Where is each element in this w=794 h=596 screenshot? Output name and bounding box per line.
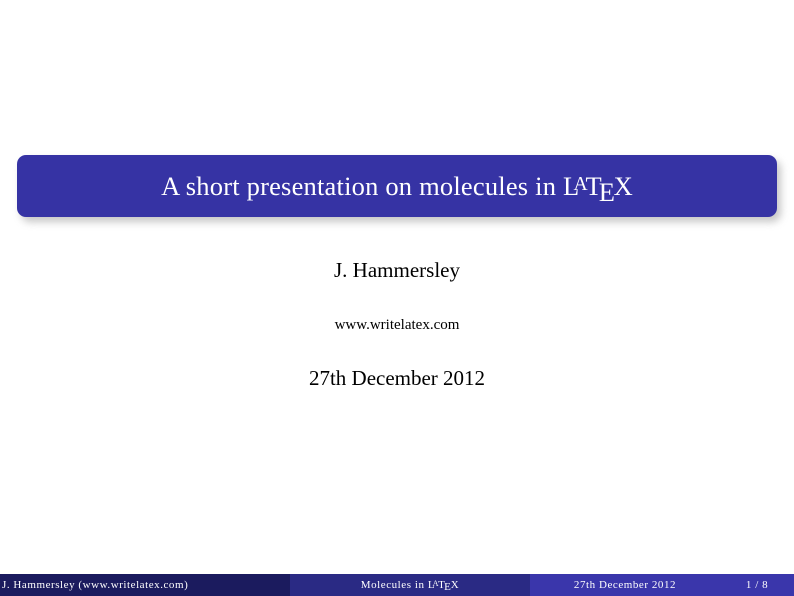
title-text-prefix: A short presentation on molecules in — [161, 171, 563, 201]
institute-website: www.writelatex.com — [0, 318, 794, 333]
footer-bar: J. Hammersley (www.writelatex.com) Molec… — [0, 574, 794, 596]
latex-logo-a: A — [574, 174, 588, 195]
slide-canvas: A short presentation on molecules in LAT… — [0, 0, 794, 596]
latex-logo-e: E — [599, 177, 615, 207]
title-block: A short presentation on molecules in LAT… — [17, 155, 777, 217]
title-banner: A short presentation on molecules in LAT… — [17, 155, 777, 217]
footer-right-section: 27th December 2012 1 / 8 — [530, 574, 794, 596]
footer-latex-logo-icon: LATEX — [428, 579, 459, 591]
presentation-date: 27th December 2012 — [0, 368, 794, 389]
footer-page-number: 1 / 8 — [720, 574, 794, 596]
footer-title: Molecules in LATEX — [290, 574, 530, 596]
footer-latex-logo-e: E — [444, 581, 451, 593]
author-name: J. Hammersley — [0, 260, 794, 281]
footer-title-prefix: Molecules in — [361, 579, 428, 591]
footer-latex-logo-x: X — [451, 579, 460, 591]
footer-date: 27th December 2012 — [530, 574, 720, 596]
latex-logo-x: X — [614, 171, 633, 201]
footer-latex-logo-a: A — [433, 579, 439, 588]
latex-logo-icon: LATEX — [563, 171, 633, 201]
footer-author: J. Hammersley (www.writelatex.com) — [0, 574, 290, 596]
page-title: A short presentation on molecules in LAT… — [161, 173, 633, 200]
